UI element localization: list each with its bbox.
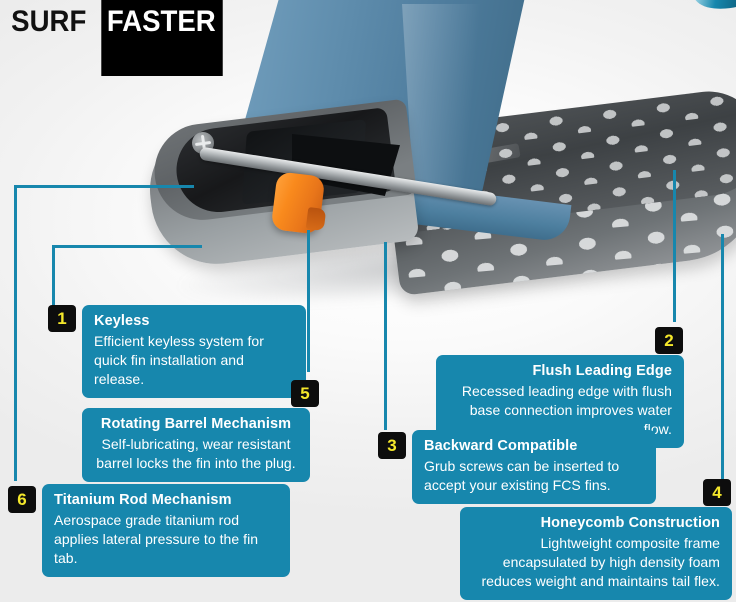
logo-word-surf: SURF <box>4 0 92 76</box>
callout-body-5: Self-lubricating, wear resistant barrel … <box>94 435 298 473</box>
leader-line-1-horizontal <box>52 245 202 248</box>
leader-line-1-vertical <box>52 245 55 311</box>
callout-badge-3[interactable]: 3 <box>378 432 406 459</box>
callout-badge-5[interactable]: 5 <box>291 380 319 407</box>
leader-line-2-vertical <box>673 170 676 322</box>
logo-word-faster: FASTER <box>101 0 223 76</box>
callout-box-3[interactable]: Backward Compatible Grub screws can be i… <box>412 430 656 504</box>
callout-title-2: Flush Leading Edge <box>448 362 672 381</box>
leader-line-6-vertical <box>14 185 17 481</box>
callout-box-4[interactable]: Honeycomb Construction Lightweight compo… <box>460 507 732 600</box>
brand-logo: SURF FASTER <box>0 0 228 76</box>
callout-body-6: Aerospace grade titanium rod applies lat… <box>54 511 278 568</box>
callout-title-5: Rotating Barrel Mechanism <box>94 415 298 434</box>
leader-line-3-vertical <box>384 242 387 430</box>
product-photo <box>140 0 736 294</box>
callout-badge-2[interactable]: 2 <box>655 327 683 354</box>
callout-title-4: Honeycomb Construction <box>472 514 720 533</box>
callout-box-1[interactable]: Keyless Efficient keyless system for qui… <box>82 305 306 398</box>
callout-title-6: Titanium Rod Mechanism <box>54 491 278 510</box>
callout-badge-4[interactable]: 4 <box>703 479 731 506</box>
callout-body-4: Lightweight composite frame encapsulated… <box>472 534 720 591</box>
leader-line-6-horizontal <box>14 185 194 188</box>
leader-line-5-vertical <box>307 230 310 372</box>
callout-title-1: Keyless <box>94 312 294 331</box>
callout-title-3: Backward Compatible <box>424 437 644 456</box>
callout-box-6[interactable]: Titanium Rod Mechanism Aerospace grade t… <box>42 484 290 577</box>
callout-body-3: Grub screws can be inserted to accept yo… <box>424 457 644 495</box>
callout-badge-1[interactable]: 1 <box>48 305 76 332</box>
infographic-stage: SURF FASTER 1 Keyless Efficient keyless … <box>0 0 736 602</box>
callout-box-5[interactable]: Rotating Barrel Mechanism Self-lubricati… <box>82 408 310 482</box>
callout-body-1: Efficient keyless system for quick fin i… <box>94 332 294 389</box>
callout-badge-6[interactable]: 6 <box>8 486 36 513</box>
leader-line-4-vertical <box>721 234 724 482</box>
